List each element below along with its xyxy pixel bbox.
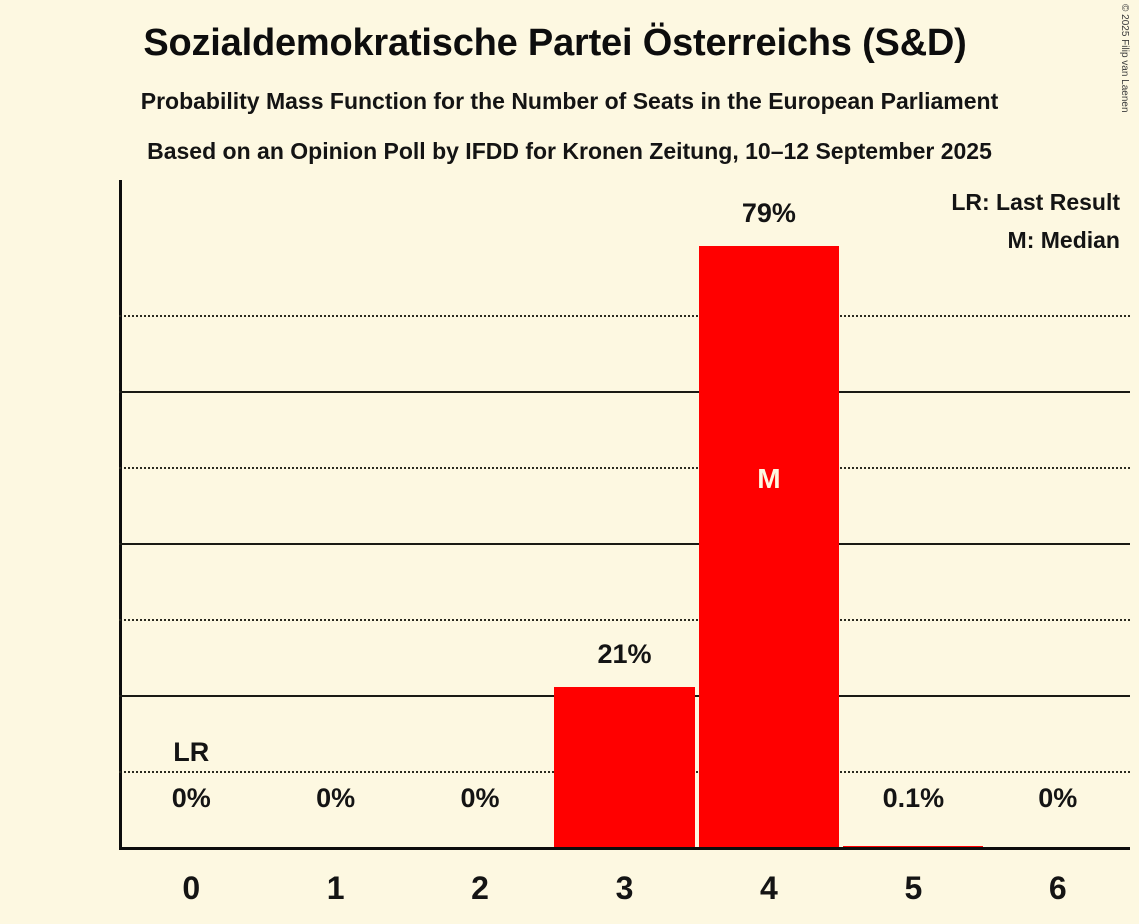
bar-seat-3 [554,687,694,847]
bar-value-label-4: 79% [697,198,841,229]
x-axis-tick-label-1: 1 [263,870,407,907]
chart-container: Sozialdemokratische Partei Österreichs (… [0,0,1139,924]
gridline-70pct [119,315,1130,317]
x-axis-tick-label-5: 5 [841,870,985,907]
chart-subtitle-secondary: Based on an Opinion Poll by IFDD for Kro… [0,138,1139,165]
bar-value-label-3: 21% [552,639,696,670]
bar-seat-4 [699,246,839,847]
x-axis-tick-label-2: 2 [408,870,552,907]
copyright-text: © 2025 Filip van Laenen [1119,4,1130,113]
page-title: Sozialdemokratische Partei Österreichs (… [0,22,1110,65]
gridline-30pct [119,619,1130,621]
bar-value-label-0: 0% [119,783,263,814]
copyright-notice: © 2025 Filip van Laenen [1122,4,1138,144]
x-axis-line [119,847,1130,850]
plot-area: 20%40%60% 0%0%0%21%79%0.1%0% LRM [119,180,1130,847]
x-axis-tick-label-3: 3 [552,870,696,907]
gridline-60pct [119,391,1130,393]
x-axis-tick-label-0: 0 [119,870,263,907]
x-axis-tick-label-4: 4 [697,870,841,907]
bar-value-label-5: 0.1% [841,783,985,814]
gridline-40pct [119,543,1130,545]
bar-value-label-6: 0% [986,783,1130,814]
gridline-50pct [119,467,1130,469]
bar-value-label-1: 0% [263,783,407,814]
chart-subtitle-primary: Probability Mass Function for the Number… [0,88,1139,115]
x-axis-tick-label-6: 6 [986,870,1130,907]
bar-seat-5 [843,846,983,847]
bar-value-label-2: 0% [408,783,552,814]
last-result-marker: LR [119,737,263,768]
median-marker: M [697,463,841,495]
